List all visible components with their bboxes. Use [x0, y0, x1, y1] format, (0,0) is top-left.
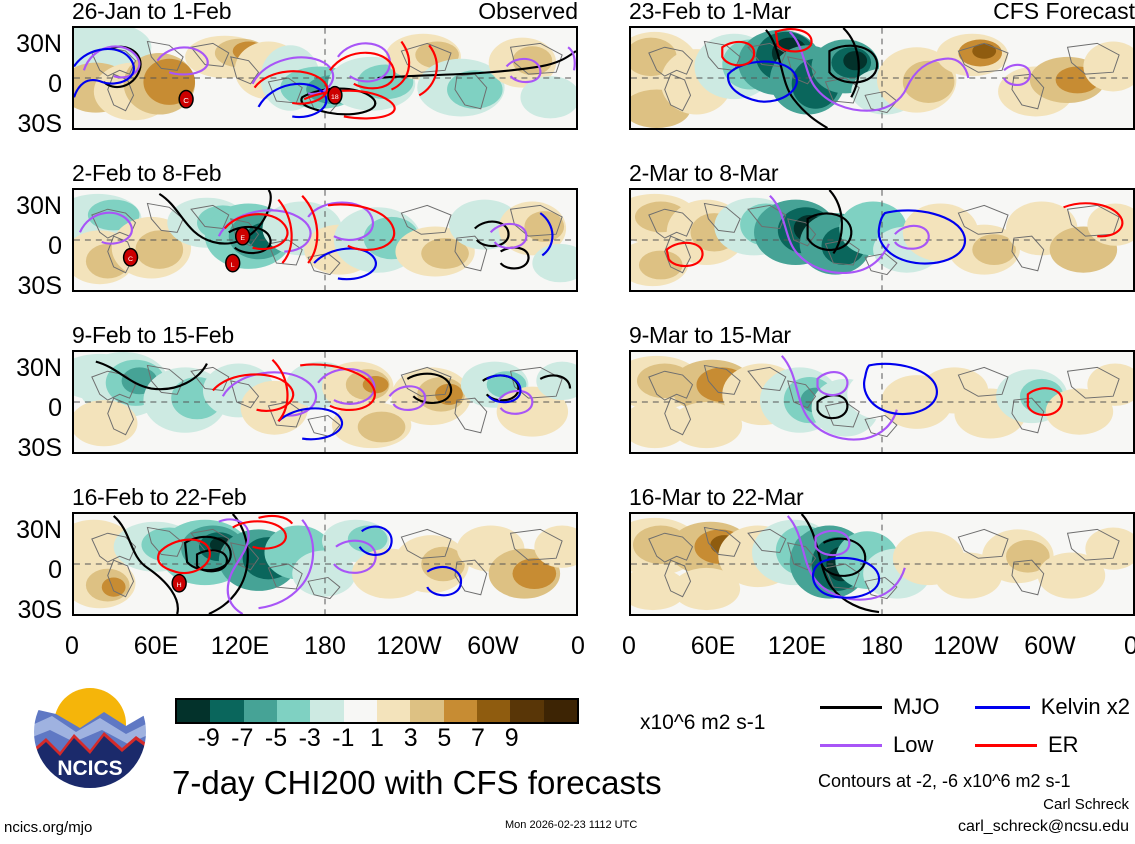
author-name: Carl Schreck: [1043, 797, 1129, 812]
colorbar-tick-9: 9: [505, 726, 519, 751]
x-tick-left-1: 60E: [134, 634, 178, 659]
legend-row-1: MJO Kelvin x2: [820, 688, 1135, 726]
svg-text:C: C: [183, 96, 189, 105]
colorbar[interactable]: -9 -7 -5 -3 -1 1 3 5 7 9: [175, 698, 579, 754]
y-tick-0-row3: 0: [0, 396, 62, 421]
panel-title: 16-Mar to 22-Mar: [629, 486, 803, 509]
colorbar-units-label: x10^6 m2 s-1: [640, 712, 765, 733]
legend-item-er[interactable]: ER: [975, 734, 1130, 756]
colorbar-tick-0: -9: [198, 726, 220, 751]
colorbar-swatch-1: [210, 700, 243, 722]
legend-row-2: Low ER: [820, 726, 1135, 764]
legend-item-mjo[interactable]: MJO: [820, 696, 975, 718]
colorbar-tick-3: -3: [299, 726, 321, 751]
contour-legend: MJO Kelvin x2 Low ER: [820, 688, 1135, 764]
panel-forecast-3[interactable]: 9-Mar to 15-Mar: [629, 350, 1135, 454]
x-tick-right-0: 0: [622, 634, 636, 659]
y-tick-0-row4: 0: [0, 558, 62, 583]
svg-text:L: L: [231, 262, 235, 269]
colorbar-swatch-9: [477, 700, 510, 722]
contour-note: Contours at -2, -6 x10^6 m2 s-1: [818, 772, 1071, 790]
column-header-observed: Observed: [478, 0, 578, 23]
colorbar-tick-4: -1: [332, 726, 354, 751]
colorbar-tick-6: 3: [404, 726, 418, 751]
colorbar-tick-5: 1: [370, 726, 384, 751]
legend-label: Low: [893, 734, 933, 756]
colorbar-swatch-6: [377, 700, 410, 722]
panel-title: 16-Feb to 22-Feb: [72, 486, 247, 509]
x-tick-right-1: 60E: [691, 634, 735, 659]
y-tick-30n-row3: 30N: [0, 356, 62, 381]
ncics-logo: NCICS: [30, 672, 150, 792]
map-canvas[interactable]: [629, 26, 1135, 130]
legend-label: ER: [1048, 734, 1079, 756]
map-canvas[interactable]: [629, 512, 1135, 616]
x-tick-right-3: 180: [861, 634, 903, 659]
colorbar-tick-1: -7: [231, 726, 253, 751]
panel-title: 2-Feb to 8-Feb: [72, 162, 221, 185]
legend-item-low[interactable]: Low: [820, 734, 975, 756]
mjo-line-icon: [820, 706, 882, 709]
colorbar-swatch-8: [444, 700, 477, 722]
x-tick-left-5: 60W: [467, 634, 518, 659]
column-header-forecast: CFS Forecast: [993, 0, 1135, 23]
panel-observed-3[interactable]: 9-Feb to 15-Feb: [72, 350, 578, 454]
x-tick-left-3: 180: [304, 634, 346, 659]
legend-item-kelvin[interactable]: Kelvin x2: [975, 696, 1130, 718]
y-tick-0-row2: 0: [0, 234, 62, 259]
colorbar-swatch-4: [310, 700, 343, 722]
logo-text: NCICS: [57, 757, 122, 780]
figure-root: 30N 0 30S 30N 0 30S 30N 0 30S 30N 0 30S …: [0, 0, 1135, 844]
colorbar-swatches[interactable]: [175, 698, 579, 724]
colorbar-tick-2: -5: [265, 726, 287, 751]
svg-text:C: C: [128, 256, 133, 263]
low-line-icon: [820, 744, 882, 747]
y-tick-30s-row2: 30S: [0, 274, 62, 299]
y-tick-30s-row1: 30S: [0, 112, 62, 137]
x-tick-left-6: 0: [571, 634, 585, 659]
er-line-icon: [975, 744, 1037, 747]
x-tick-right-5: 60W: [1024, 634, 1075, 659]
panel-forecast-1[interactable]: 23-Feb to 1-Mar CFS Forecast: [629, 26, 1135, 130]
panel-forecast-2[interactable]: 2-Mar to 8-Mar: [629, 188, 1135, 292]
map-canvas[interactable]: [72, 350, 578, 454]
main-title: 7-day CHI200 with CFS forecasts: [172, 766, 662, 799]
svg-text:H: H: [177, 582, 182, 589]
kelvin-line-icon: [975, 706, 1030, 709]
x-tick-left-4: 120W: [376, 634, 441, 659]
colorbar-swatch-0: [177, 700, 210, 722]
y-tick-0-row1: 0: [0, 72, 62, 97]
map-canvas[interactable]: C E L: [72, 188, 578, 292]
x-tick-left-2: 120E: [211, 634, 269, 659]
y-tick-30n-row1: 30N: [0, 32, 62, 57]
legend-label: MJO: [893, 696, 939, 718]
panel-observed-2[interactable]: 2-Feb to 8-Feb: [72, 188, 578, 292]
y-tick-30n-row4: 30N: [0, 518, 62, 543]
map-canvas[interactable]: [629, 350, 1135, 454]
panel-title: 26-Jan to 1-Feb: [72, 0, 231, 23]
svg-text:18: 18: [331, 94, 339, 101]
panel-title: 9-Feb to 15-Feb: [72, 324, 234, 347]
x-tick-right-6: 0: [1124, 634, 1135, 659]
x-tick-right-2: 120E: [768, 634, 826, 659]
colorbar-swatch-10: [510, 700, 543, 722]
colorbar-swatch-5: [344, 700, 377, 722]
x-tick-right-4: 120W: [933, 634, 998, 659]
panel-title: 23-Feb to 1-Mar: [629, 0, 791, 23]
colorbar-swatch-2: [244, 700, 277, 722]
map-canvas[interactable]: [629, 188, 1135, 292]
y-tick-30s-row3: 30S: [0, 436, 62, 461]
legend-label: Kelvin x2: [1041, 696, 1130, 718]
site-url[interactable]: ncics.org/mjo: [4, 820, 92, 835]
map-canvas[interactable]: C 18: [72, 26, 578, 130]
panel-title: 2-Mar to 8-Mar: [629, 162, 778, 185]
panel-title: 9-Mar to 15-Mar: [629, 324, 791, 347]
author-email[interactable]: carl_schreck@ncsu.edu: [958, 819, 1129, 835]
x-tick-left-0: 0: [65, 634, 79, 659]
panel-forecast-4[interactable]: 16-Mar to 22-Mar: [629, 512, 1135, 616]
storm-markers: H: [172, 575, 186, 592]
svg-text:E: E: [240, 235, 245, 242]
map-canvas[interactable]: H: [72, 512, 578, 616]
colorbar-ticks: -9 -7 -5 -3 -1 1 3 5 7 9: [175, 724, 579, 754]
panel-observed-4[interactable]: 16-Feb to 22-Feb: [72, 512, 578, 616]
colorbar-swatch-3: [277, 700, 310, 722]
colorbar-swatch-7: [410, 700, 443, 722]
panel-observed-1[interactable]: 26-Jan to 1-Feb Observed: [72, 26, 578, 130]
colorbar-swatch-11: [544, 700, 577, 722]
y-tick-30n-row2: 30N: [0, 194, 62, 219]
y-tick-30s-row4: 30S: [0, 598, 62, 623]
colorbar-tick-8: 7: [471, 726, 485, 751]
colorbar-tick-7: 5: [437, 726, 451, 751]
timestamp: Mon 2026-02-23 1112 UTC: [505, 820, 637, 831]
